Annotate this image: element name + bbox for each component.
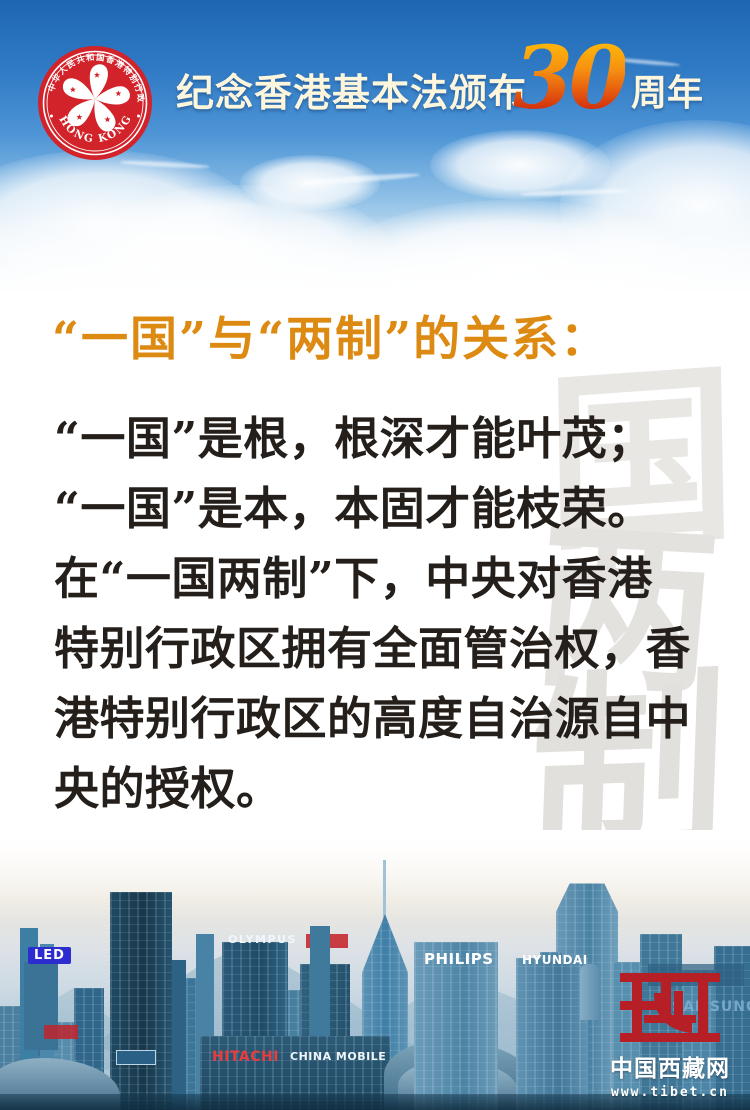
body-paragraph: “一国”是根，根深才能叶茂； “一国”是本，本固才能枝荣。 在“一国两制”下，中…	[54, 404, 702, 824]
tibet-logo-mark-icon	[614, 971, 726, 1045]
paragraph-line: “一国”是根，根深才能叶茂；	[54, 404, 702, 474]
cloud-wisp	[300, 172, 420, 186]
poster-root: 中华人民共和国香港特别行政区 HONG KONG	[0, 0, 750, 1110]
cloud-wisp	[520, 188, 630, 197]
sign-olympus: OLYMPUS	[228, 934, 297, 945]
anniversary-number: 30	[513, 36, 625, 122]
paragraph-line: 在“一国两制”下，中央对香港	[54, 544, 702, 614]
banner-title: 纪念香港基本法颁布	[176, 62, 527, 117]
cloud-shape	[560, 120, 750, 290]
hong-kong-sar-emblem-icon: 中华人民共和国香港特别行政区 HONG KONG	[36, 44, 154, 162]
page-title: “一国”与“两制”的关系：	[52, 300, 609, 369]
china-tibet-net-logo[interactable]: 中国西藏网 www.tibet.cn	[600, 971, 740, 1100]
cloud-shape	[90, 185, 390, 300]
sign-blue-small	[116, 1050, 156, 1065]
paragraph-line: 特别行政区拥有全面管治权，香	[54, 614, 702, 684]
sign-hitachi: HITACHI	[212, 1050, 279, 1064]
sign-philips: PHILIPS	[424, 952, 494, 967]
site-name: 中国西藏网	[600, 1049, 740, 1083]
cloud-base-fade	[0, 215, 750, 300]
anniversary-suffix: 周年	[631, 64, 703, 116]
building-hyundai	[516, 958, 588, 1110]
sign-led: LED	[28, 947, 71, 964]
sign-hyundai: HYUNDAI	[522, 954, 588, 966]
building	[172, 960, 186, 1110]
cloud-shape	[0, 150, 260, 300]
content-panel: 国 两 制 “一国”与“两制”的关系： “一国”是根，根深才能叶茂； “一国”是…	[0, 292, 750, 852]
building-dark-slab	[110, 892, 172, 1110]
window-grid	[110, 892, 172, 1110]
paragraph-line: 港特别行政区的高度自治源自中	[54, 684, 702, 754]
sign-china-mobile: CHINA MOBILE	[290, 1051, 386, 1062]
paragraph-line: “一国”是本，本固才能枝荣。	[54, 474, 702, 544]
window-grid	[516, 958, 588, 1110]
cylinder-tower	[580, 964, 600, 1020]
paragraph-line: 央的授权。	[54, 754, 702, 824]
sign-panel-small	[44, 1025, 78, 1039]
site-url: www.tibet.cn	[600, 1085, 740, 1100]
cloud-shape	[330, 200, 690, 300]
